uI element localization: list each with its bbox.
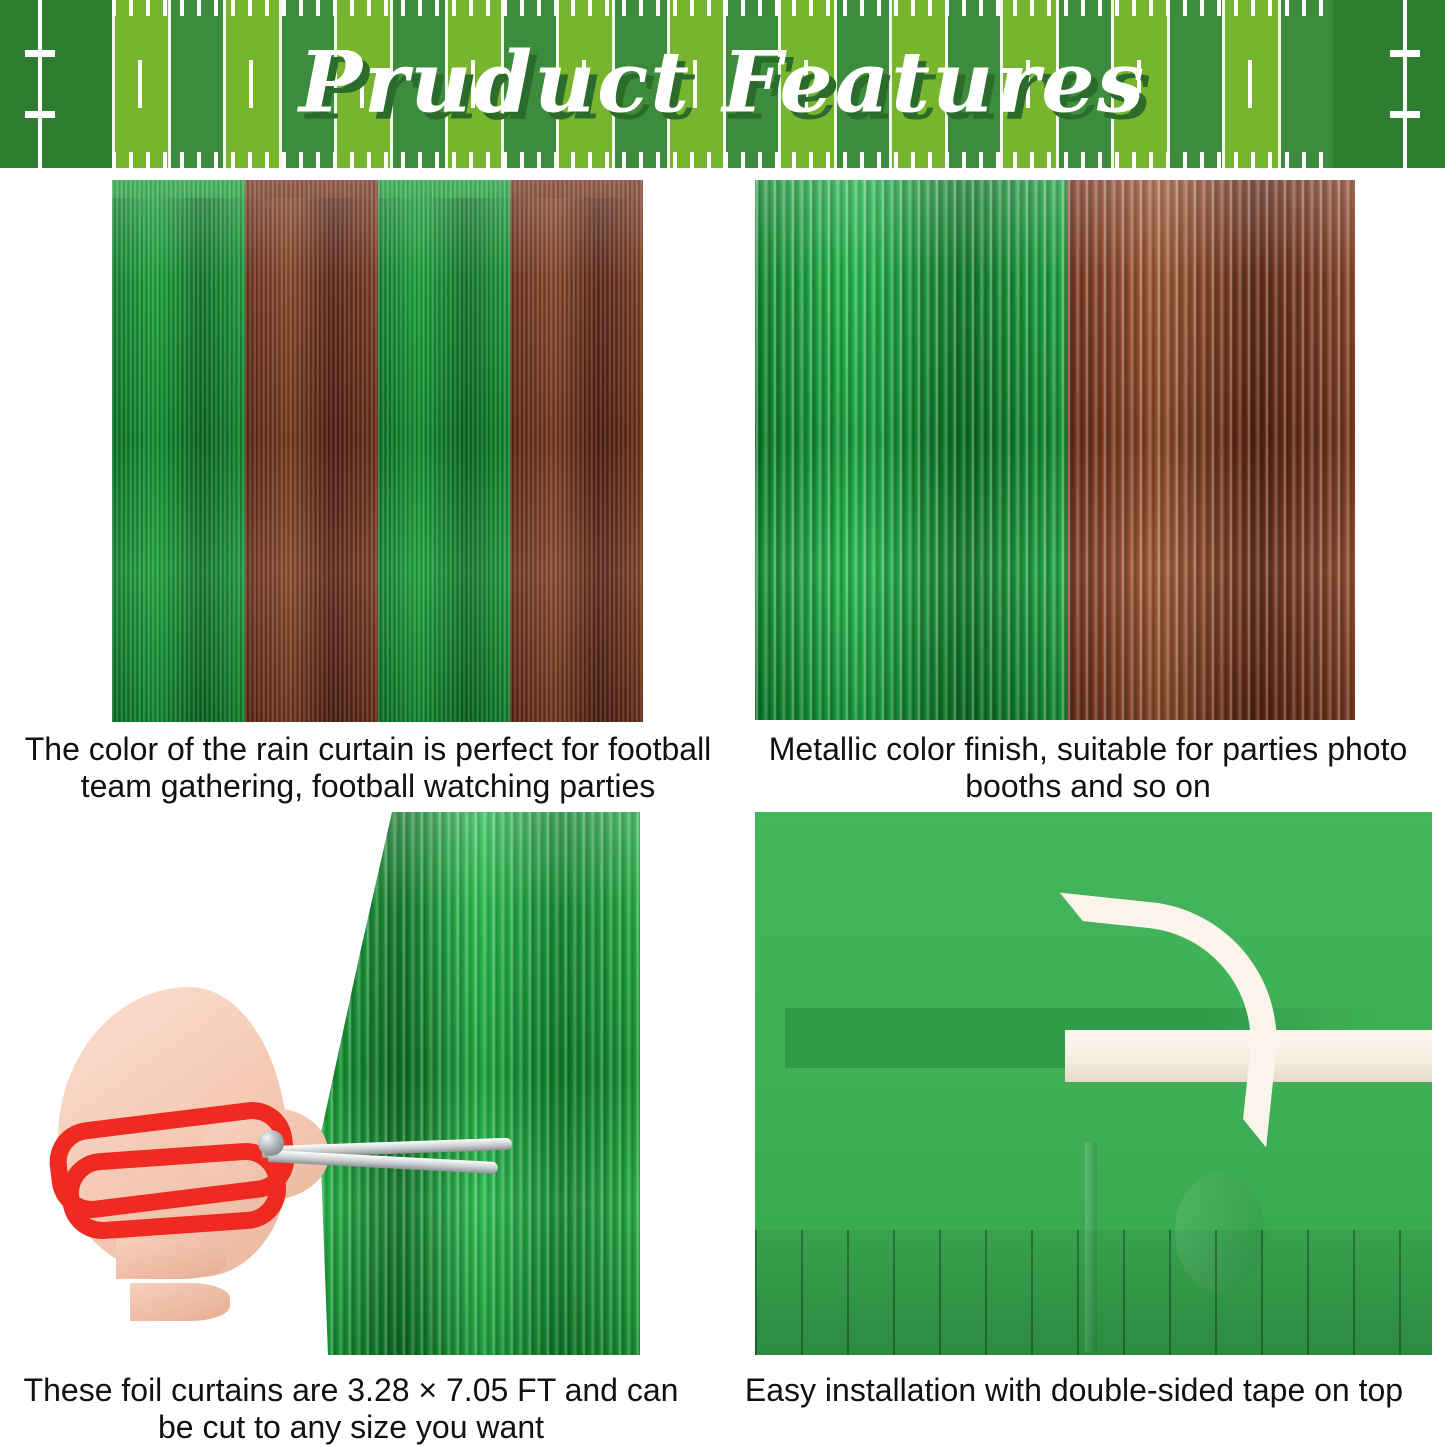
metallic-sheen bbox=[112, 180, 245, 722]
green-foil-curtain bbox=[240, 812, 640, 1355]
curtain-strip-green bbox=[378, 180, 511, 722]
panel-double-sided-tape bbox=[755, 812, 1432, 1355]
curtain-strip-group bbox=[112, 180, 643, 722]
yard-ticks-bottom bbox=[112, 152, 1333, 168]
panel-cut-to-size bbox=[10, 812, 640, 1355]
curtain-half-green bbox=[755, 180, 1067, 720]
tape-peel-curl bbox=[1036, 893, 1291, 1148]
metallic-sheen bbox=[378, 180, 511, 722]
curtain-half-brown bbox=[1067, 180, 1355, 720]
finger bbox=[116, 1239, 226, 1279]
metallic-sheen bbox=[755, 180, 1067, 720]
caption-installation: Easy installation with double-sided tape… bbox=[710, 1372, 1438, 1409]
panel-foil-curtain-strips bbox=[112, 180, 643, 722]
panel-metallic-closeup bbox=[755, 180, 1355, 720]
caption-metallic-finish: Metallic color finish, suitable for part… bbox=[738, 731, 1438, 806]
metallic-sheen bbox=[245, 180, 378, 722]
scissors-handle-icon bbox=[59, 1140, 288, 1241]
curtain-strip-brown bbox=[510, 180, 643, 722]
metallic-sheen bbox=[510, 180, 643, 722]
finger bbox=[130, 1283, 230, 1321]
curtain-strip-green bbox=[112, 180, 245, 722]
header-banner: Pruduct Features bbox=[0, 0, 1445, 168]
caption-dimensions: These foil curtains are 3.28 × 7.05 FT a… bbox=[6, 1372, 696, 1447]
metallic-sheen bbox=[1067, 180, 1355, 720]
page-title: Pruduct Features bbox=[0, 33, 1445, 132]
scissors-pivot-icon bbox=[258, 1130, 284, 1156]
metallic-sheen bbox=[240, 812, 640, 1355]
yard-ticks-top bbox=[112, 0, 1333, 16]
curtain-strip-brown bbox=[245, 180, 378, 722]
fringe-cut-lines bbox=[755, 1230, 1432, 1355]
caption-football-use: The color of the rain curtain is perfect… bbox=[6, 731, 730, 806]
